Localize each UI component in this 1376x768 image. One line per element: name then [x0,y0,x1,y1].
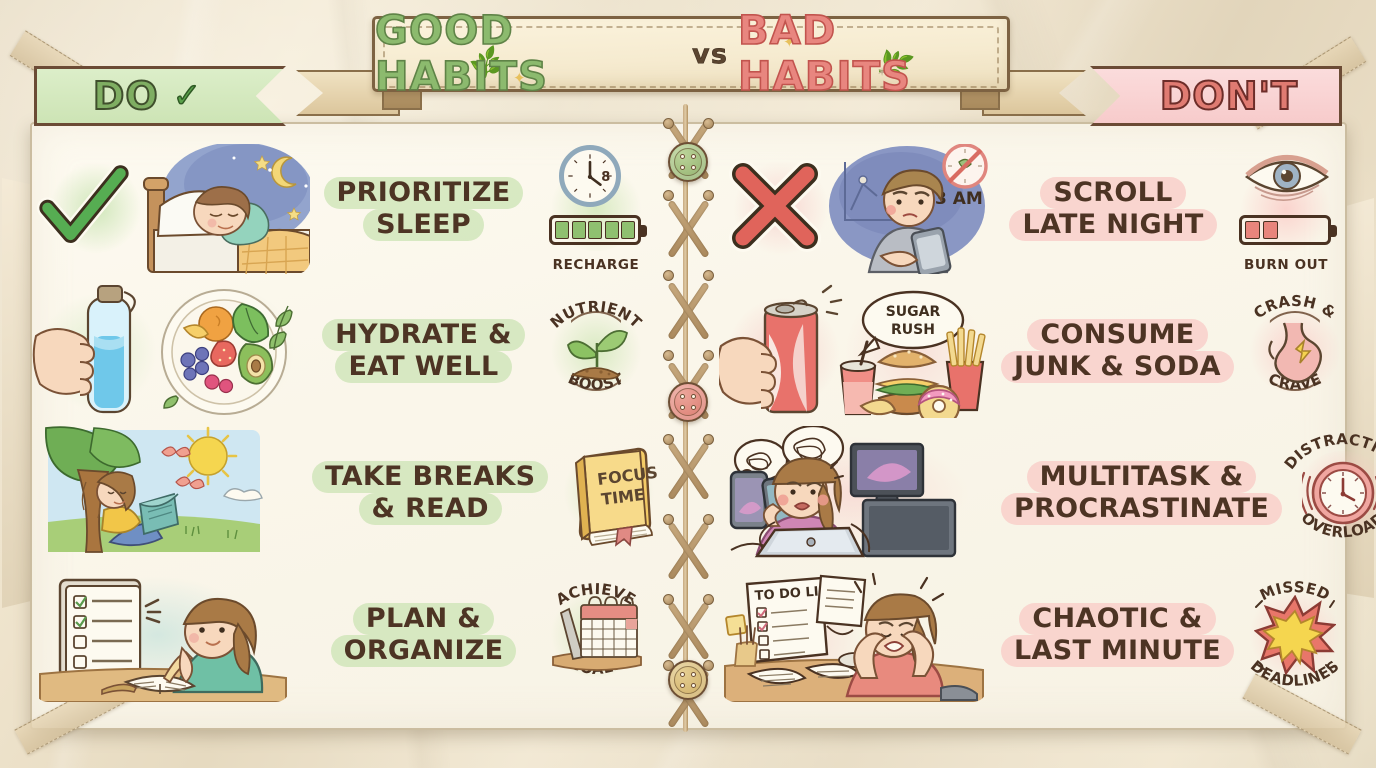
tired-eye-icon [1241,147,1333,205]
center-stitched-divider [655,104,721,732]
badge-bottom-text: BURN OUT [1225,257,1347,273]
svg-text:8: 8 [601,170,610,185]
label-junk: CONSUME JUNK & SODA [1001,319,1234,383]
check-mark-icon: ✓ [173,76,202,116]
title-banner-panel: 🌿 🌿 ✦ ✦ ✶ ✶ GOOD HABITS vs BAD HABITS [372,16,1010,92]
bad-row-chaotic: TO DO LIST [719,562,1347,708]
sleeping-girl-scene [142,144,310,274]
divider-gold-button [668,660,708,700]
bad-row-multitask: MULTITASK & PROCRASTINATE DISTRACTION OV… [719,420,1347,566]
lace-knob [663,350,674,361]
illustration-sleep [30,142,312,276]
do-label: DO [93,74,159,118]
lace-knob [663,594,674,605]
label-line: TAKE BREAKS [312,461,548,493]
badge-burn-out: BURN OUT [1225,143,1347,275]
title-bad-habits: BAD HABITS [738,8,1007,100]
badge-missed-deadlines: MISSED DEADLINES [1234,569,1356,701]
badge-achieve-goals: ACHIEVE GOALS [535,569,657,701]
illustration-hydrate [30,284,312,418]
label-line: EAT WELL [335,351,511,383]
label-line: PROCRASTINATE [1001,493,1282,525]
low-battery-icon [1239,215,1331,245]
title-versus: vs [692,39,728,70]
label-line: HYDRATE & [322,319,525,351]
label-multitask: MULTITASK & PROCRASTINATE [1001,461,1282,525]
desk-calendar-icon [547,591,645,677]
badge-top-text: CRASH & [1250,292,1339,322]
badge-bottom-text: RECHARGE [535,257,657,273]
starburst-explosion-icon [1254,595,1336,675]
hand-water-bottle [32,284,164,418]
illustration-plan [30,568,312,702]
lace-knob [703,514,714,525]
lace-knob [663,270,674,281]
label-line: CHAOTIC & [1019,603,1215,635]
girl-reading-under-tree [36,426,286,560]
label-line: PLAN & [353,603,494,635]
panicked-girl-messy-desk: TO DO LIST [721,568,987,702]
badge-recharge: 8 RECHARGE [535,143,657,275]
lace-knob [663,190,674,201]
label-line: SCROLL [1040,177,1185,209]
hand-holding-soda-can [719,284,849,418]
lace-cross-3 [662,282,714,340]
good-row-plan: PLAN & ORGANIZE ACHIEVE GOALS [30,562,657,708]
seedling-icon [563,321,629,383]
lace-knob [663,118,674,129]
good-row-hydrate: HYDRATE & EAT WELL NUTRIENT BOOST [30,278,657,424]
illustration-junk-food: SUGAR RUSH [719,284,1001,418]
bad-row-junk: SUGAR RUSH [719,278,1347,424]
lace-knob [703,118,714,129]
good-row-sleep: PRIORITIZE SLEEP 8 [30,136,657,282]
label-plan: PLAN & ORGANIZE [312,603,535,667]
badge-crash-crave: CRASH & CRAVE [1234,285,1356,417]
label-hydrate: HYDRATE & EAT WELL [312,319,535,383]
label-line: ORGANIZE [331,635,517,667]
bad-row-scroll: 3 AM SCROLL LATE NIGHT [719,136,1347,282]
bad-habits-column: 3 AM SCROLL LATE NIGHT [719,122,1347,730]
illustration-scroll-late-night: 3 AM [719,142,1001,276]
label-sleep: PRIORITIZE SLEEP [312,177,535,241]
do-ribbon-banner: DO ✓ [34,66,286,126]
focus-time-book-icon: FOCUS TIME [562,441,660,547]
badge-nutrient-boost: NUTRIENT BOOST [535,285,657,417]
title-good-habits: GOOD HABITS [375,8,682,100]
illustration-chaotic: TO DO LIST [719,568,1001,702]
lace-knob [703,270,714,281]
label-line: & READ [359,493,502,525]
label-line: MULTITASK & [1027,461,1257,493]
label-line: LAST MINUTE [1001,635,1234,667]
full-battery-icon [549,215,641,245]
stressed-multitasking-girl [721,426,987,560]
checklist-and-girl-writing [34,570,290,702]
badge-distraction-overload: DISTRACTION OVERLOAD [1282,427,1376,559]
label-scroll-late-night: SCROLL LATE NIGHT [1001,177,1225,241]
illustration-multitask [719,426,1001,560]
lace-knob [703,350,714,361]
title-ribbon: 🌿 🌿 ✦ ✦ ✶ ✶ GOOD HABITS vs BAD HABITS [296,8,1086,112]
label-line: LATE NIGHT [1009,209,1216,241]
healthy-food-plate [154,286,300,418]
label-line: SLEEP [363,209,484,241]
dont-label: DON'T [1160,74,1298,118]
ringing-alarm-clock-icon [1302,455,1376,531]
stomach-ache-icon [1262,319,1328,383]
svg-text:CRASH &: CRASH & [1250,292,1339,322]
lace-knob [703,594,714,605]
red-cross-icon [725,156,825,256]
label-line: JUNK & SODA [1001,351,1234,383]
badge-focus-time: FOCUS TIME [548,427,670,559]
sugar-rush-line-2: RUSH [891,322,935,338]
junk-food-group: SUGAR RUSH [831,284,1001,418]
label-line: CONSUME [1027,319,1207,351]
illustration-read [30,426,312,560]
lace-knob [703,434,714,445]
good-row-read: TAKE BREAKS & READ FOCUS TIME [30,420,657,566]
divider-green-button [668,142,708,182]
sugar-rush-line-1: SUGAR [886,304,941,320]
label-line: PRIORITIZE [324,177,524,209]
dont-ribbon-banner: DON'T [1090,66,1342,126]
boy-on-phone-at-night: 3 AM [823,144,999,274]
label-chaotic: CHAOTIC & LAST MINUTE [1001,603,1234,667]
good-habits-column: PRIORITIZE SLEEP 8 [30,122,657,730]
label-read: TAKE BREAKS & READ [312,461,548,525]
lace-cross-7 [662,602,714,660]
lace-knob [703,190,714,201]
divider-red-button [668,382,708,422]
green-check-icon [36,158,132,254]
lace-cross-2 [662,200,714,258]
clock-icon: 8 [559,145,621,207]
